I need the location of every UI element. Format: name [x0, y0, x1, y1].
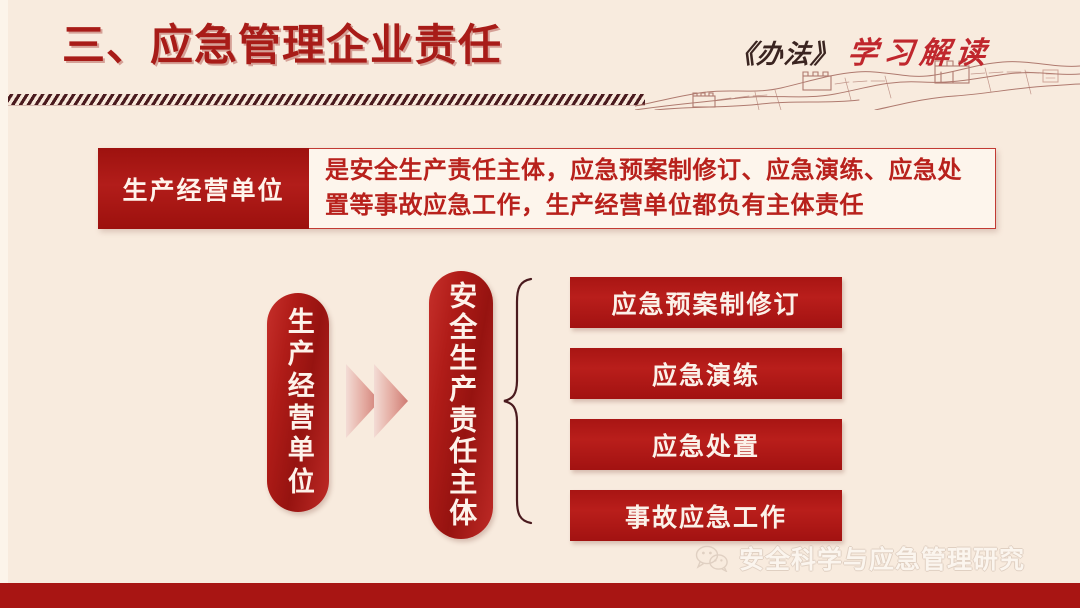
banner-body-text: 是安全生产责任主体，应急预案制修订、应急演练、应急处置等事故应急工作，生产经营单…	[325, 154, 981, 222]
list-item: 应急预案制修订	[570, 277, 842, 328]
list-item: 应急演练	[570, 348, 842, 399]
pill-production-unit: 生产经营单位	[267, 293, 329, 512]
definition-banner: 生产经营单位 是安全生产责任主体，应急预案制修订、应急演练、应急处置等事故应急工…	[98, 148, 996, 229]
list-item-label: 应急演练	[652, 356, 760, 392]
left-edge-strip	[0, 0, 8, 608]
pill-production-unit-label: 生产经营单位	[284, 307, 312, 499]
curly-brace-icon	[500, 276, 540, 526]
double-chevron-right-icon	[344, 358, 424, 444]
list-item: 应急处置	[570, 419, 842, 470]
calligraphy-tag: 《办法》 学习解读	[730, 28, 992, 72]
list-item-label: 事故应急工作	[625, 498, 787, 534]
list-item: 事故应急工作	[570, 490, 842, 541]
hatched-divider	[0, 94, 645, 105]
list-item-label: 应急处置	[652, 427, 760, 463]
watermark-text: 安全科学与应急管理研究	[739, 540, 1025, 576]
pill-safety-responsibility-subject-label: 安全生产责任主体	[447, 281, 476, 529]
banner-body: 是安全生产责任主体，应急预案制修订、应急演练、应急处置等事故应急工作，生产经营单…	[309, 148, 996, 229]
slide-canvas: 三、应急管理企业责任 《办法》 学习解读	[0, 0, 1080, 608]
pill-safety-responsibility-subject: 安全生产责任主体	[429, 271, 493, 539]
calligraphy-subtitle: 学习解读	[846, 28, 995, 72]
calligraphy-book-title: 《办法》	[728, 34, 840, 71]
wechat-icon	[695, 544, 729, 572]
page-title: 三、应急管理企业责任	[62, 22, 502, 71]
list-item-label: 应急预案制修订	[611, 285, 800, 321]
watermark: 安全科学与应急管理研究	[695, 540, 1025, 576]
footer-bar	[0, 583, 1080, 608]
banner-label: 生产经营单位	[98, 148, 309, 229]
